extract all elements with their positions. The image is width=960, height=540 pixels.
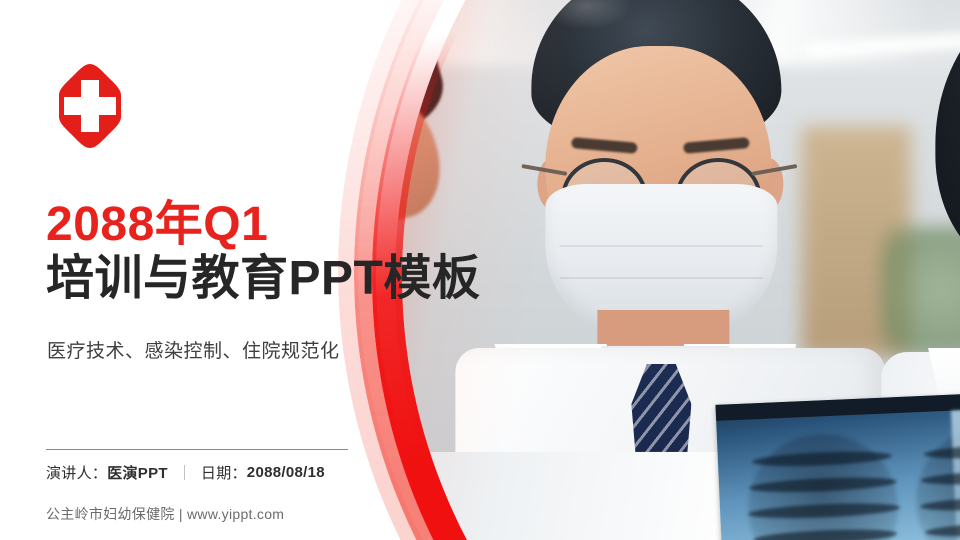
organization-line: 公主岭市妇幼保健院 | www.yippt.com [46, 504, 284, 524]
divider-rule [46, 449, 348, 450]
presenter-value: 医演PPT [107, 462, 168, 483]
presentation-slide: 2088年Q1 培训与教育PPT模板 医疗技术、感染控制、住院规范化 演讲人： … [0, 0, 960, 540]
title-block: 2088年Q1 培训与教育PPT模板 [46, 198, 516, 306]
meta-row: 演讲人： 医演PPT 日期： 2088/08/18 [46, 462, 325, 483]
hospital-cross-emblem-icon [42, 62, 138, 150]
presenter-label: 演讲人： [46, 462, 107, 483]
meta-separator [184, 465, 185, 480]
subtitle: 医疗技术、感染控制、住院规范化 [47, 336, 340, 363]
title-line-1: 2088年Q1 [46, 198, 516, 252]
date-label: 日期： [201, 462, 247, 483]
title-line-2: 培训与教育PPT模板 [46, 252, 516, 306]
date-value: 2088/08/18 [247, 464, 325, 481]
